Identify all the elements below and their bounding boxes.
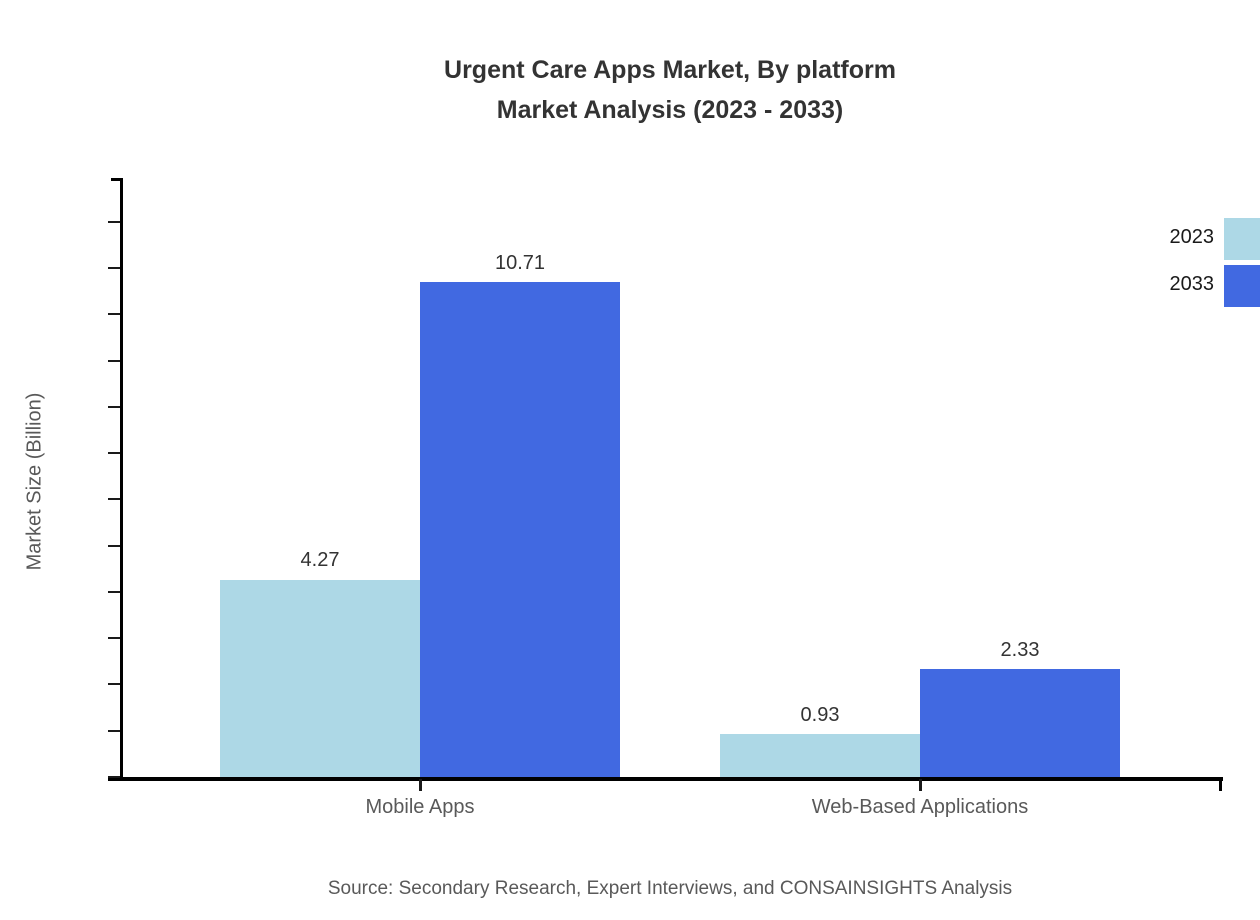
y-tick-mark — [108, 730, 120, 732]
y-tick-mark — [108, 591, 120, 593]
chart-canvas: Urgent Care Apps Market, By platform Mar… — [0, 0, 1260, 920]
x-axis-end-cap — [1219, 777, 1222, 791]
y-tick-mark — [108, 776, 120, 778]
x-tick-mark — [419, 779, 422, 791]
bar-value-label: 0.93 — [720, 705, 920, 725]
y-tick-mark — [108, 498, 120, 500]
legend-swatch-2033 — [1224, 265, 1260, 307]
bar-value-label: 2.33 — [920, 640, 1120, 660]
source-note: Source: Secondary Research, Expert Inter… — [0, 878, 1260, 900]
y-tick-mark — [108, 683, 120, 685]
bar-2033-mobile-apps[interactable] — [420, 282, 620, 777]
y-tick-mark — [108, 406, 120, 408]
chart-title-line-2: Market Analysis (2023 - 2033) — [0, 90, 1260, 130]
bar-2023-web-based-applications[interactable] — [720, 734, 920, 777]
bar-2033-web-based-applications[interactable] — [920, 669, 1120, 777]
x-tick-mark — [919, 779, 922, 791]
y-tick-mark — [108, 313, 120, 315]
bar-value-label: 4.27 — [220, 550, 420, 570]
y-tick-mark — [108, 360, 120, 362]
chart-title-line-1: Urgent Care Apps Market, By platform — [0, 50, 1260, 90]
x-category-label-1: Mobile Apps — [170, 796, 670, 819]
y-tick-mark — [108, 452, 120, 454]
bar-2023-mobile-apps[interactable] — [220, 580, 420, 778]
x-category-label-2: Web-Based Applications — [670, 796, 1170, 819]
y-tick-mark — [108, 637, 120, 639]
y-tick-mark — [108, 545, 120, 547]
legend-label-2033: 2033 — [1170, 273, 1215, 296]
legend-item-2023[interactable]: 2023 — [0, 218, 1260, 258]
y-axis-top-cap — [111, 178, 123, 181]
legend-label-2023: 2023 — [1170, 226, 1215, 249]
chart-title: Urgent Care Apps Market, By platform Mar… — [0, 50, 1260, 130]
y-axis-label: Market Size (Billion) — [24, 332, 47, 632]
x-axis-spine — [108, 777, 1223, 781]
legend-item-2033[interactable]: 2033 — [0, 265, 1260, 305]
legend-swatch-2023 — [1224, 218, 1260, 260]
